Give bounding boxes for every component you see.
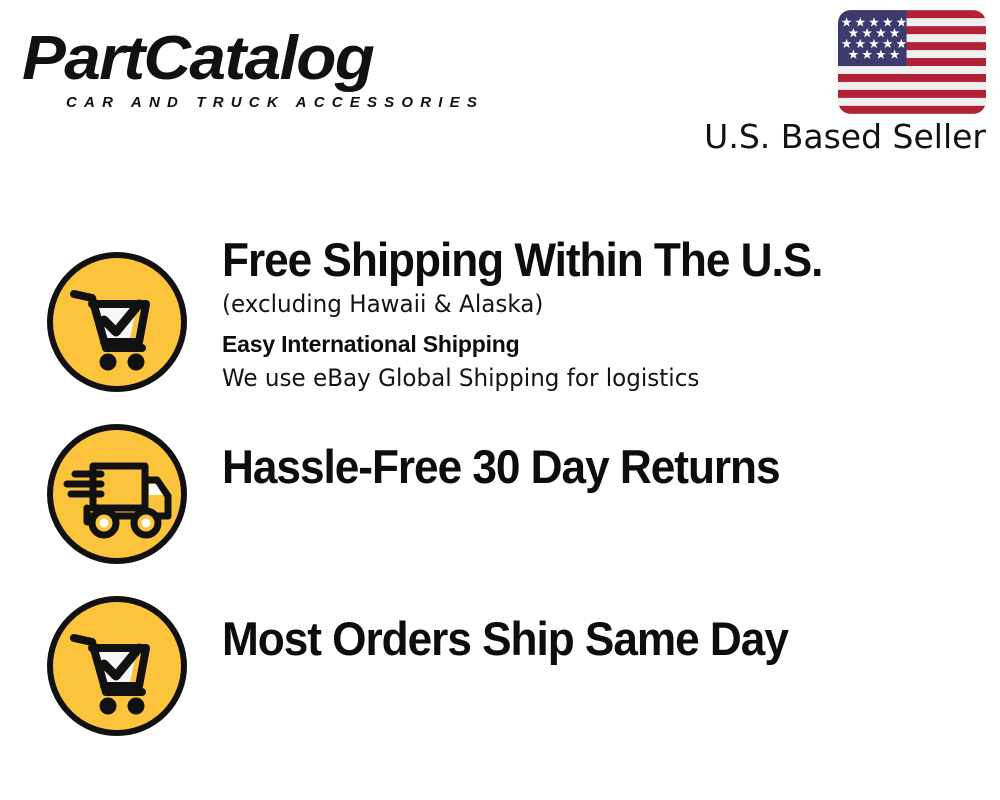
feature-text-block: Free Shipping Within The U.S. (excluding… bbox=[222, 233, 962, 395]
feature-note: (excluding Hawaii & Alaska) bbox=[222, 287, 932, 321]
us-based-seller-label: U.S. Based Seller bbox=[704, 116, 986, 158]
feature-title: Free Shipping Within The U.S. bbox=[222, 233, 918, 287]
brand-tagline: CAR AND TRUCK ACCESSORIES bbox=[66, 94, 484, 111]
feature-subnote: We use eBay Global Shipping for logistic… bbox=[222, 361, 932, 395]
feature-row: Hassle-Free 30 Day Returns bbox=[0, 410, 1000, 582]
feature-list: Free Shipping Within The U.S. (excluding… bbox=[0, 238, 1000, 754]
shopping-cart-check-icon bbox=[45, 594, 189, 738]
shopping-cart-check-icon bbox=[45, 250, 189, 394]
delivery-truck-icon bbox=[45, 422, 189, 566]
page-header: PartCatalog CAR AND TRUCK ACCESSORIES bbox=[0, 0, 1000, 175]
feature-row: Most Orders Ship Same Day bbox=[0, 582, 1000, 754]
us-flag-icon bbox=[838, 10, 986, 114]
feature-text-block: Hassle-Free 30 Day Returns bbox=[222, 440, 962, 494]
feature-row: Free Shipping Within The U.S. (excluding… bbox=[0, 238, 1000, 410]
brand-wordmark: PartCatalog bbox=[22, 26, 520, 92]
brand-logo[interactable]: PartCatalog CAR AND TRUCK ACCESSORIES bbox=[22, 26, 492, 92]
feature-subtitle: Easy International Shipping bbox=[222, 327, 962, 361]
feature-title: Most Orders Ship Same Day bbox=[222, 612, 918, 666]
feature-title: Hassle-Free 30 Day Returns bbox=[222, 440, 918, 494]
feature-text-block: Most Orders Ship Same Day bbox=[222, 612, 962, 666]
